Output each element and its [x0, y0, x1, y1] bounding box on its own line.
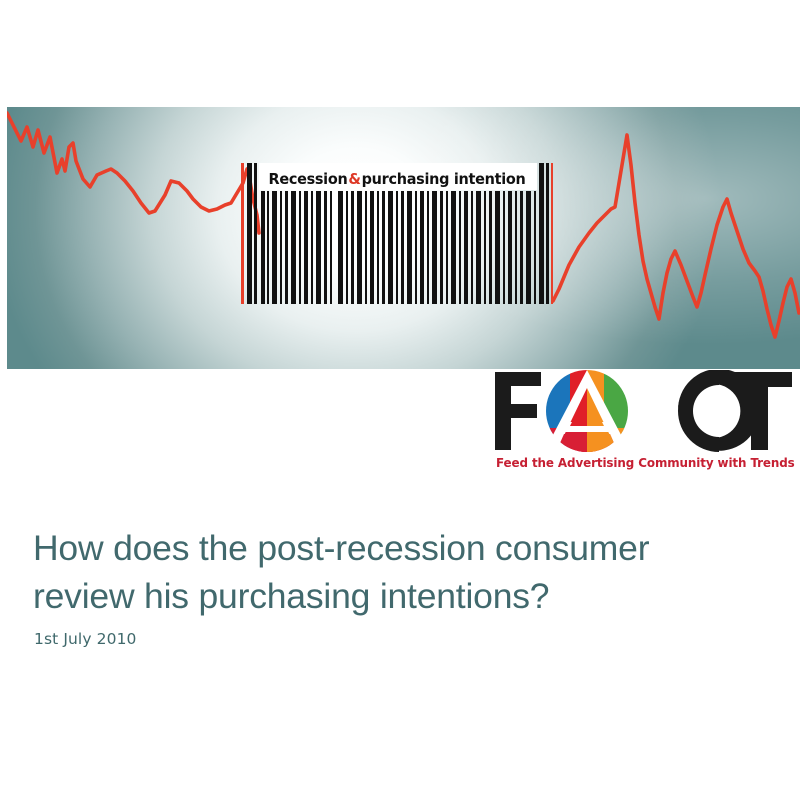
fact-wordmark-icon: [492, 370, 794, 452]
barcode-title-text: Recession & purchasing intention: [271, 166, 524, 192]
slide: Recession & purchasing intention: [0, 0, 800, 800]
page-title-line-2: review his purchasing intentions?: [33, 572, 753, 620]
fact-circle-mark: [544, 370, 630, 452]
page-title: How does the post-recession consumer rev…: [33, 524, 753, 620]
barcode-title-ampersand: &: [347, 170, 361, 188]
page-title-line-1: How does the post-recession consumer: [33, 524, 753, 572]
barcode-graphic: Recession & purchasing intention: [241, 163, 553, 304]
fact-logo: Feed the Advertising Community with Tren…: [492, 370, 794, 478]
slide-date: 1st July 2010: [34, 630, 137, 648]
fact-logo-tagline: Feed the Advertising Community with Tren…: [496, 455, 782, 470]
barcode-title-prefix: Recession: [269, 170, 348, 188]
barcode-title-suffix: purchasing intention: [362, 170, 526, 188]
